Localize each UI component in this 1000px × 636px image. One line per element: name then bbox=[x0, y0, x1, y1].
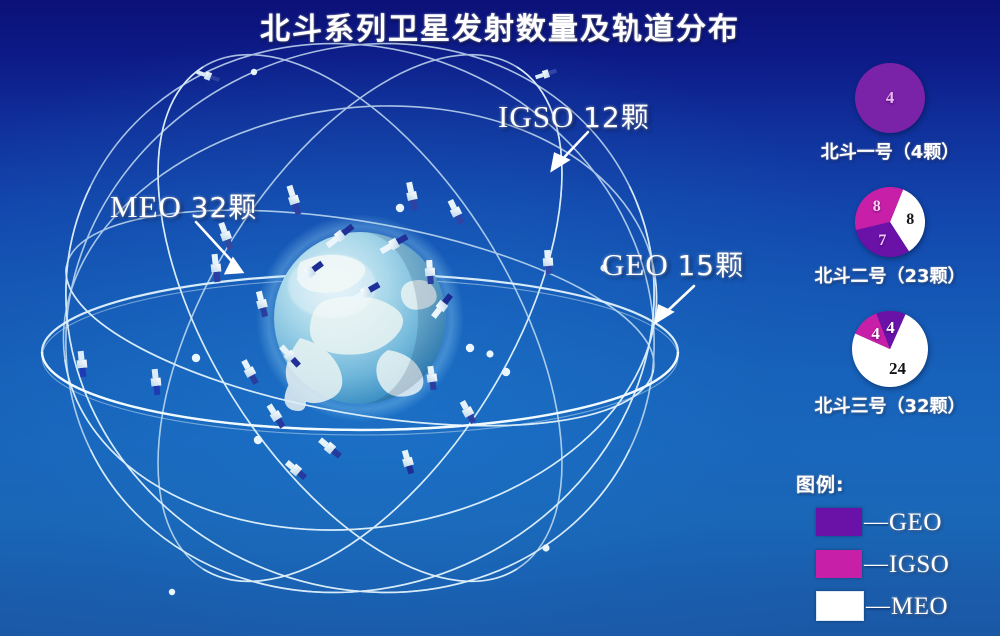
pie-svg-1 bbox=[854, 62, 926, 134]
annotation-meo-cjk: 32颗 bbox=[191, 191, 258, 224]
legend-label-igso: IGSO bbox=[889, 552, 949, 577]
pie-block-beidou-1: 4 北斗一号（4颗） bbox=[780, 62, 1000, 164]
legend-item-meo: — MEO bbox=[796, 589, 996, 623]
legend-title: 图例: bbox=[796, 470, 996, 497]
pie-caption-beidou-2: 北斗二号（23颗） bbox=[780, 262, 1000, 288]
legend-dash-meo: — bbox=[866, 594, 890, 618]
pie-caption-beidou-3: 北斗三号（32颗） bbox=[780, 392, 1000, 418]
pie-svg-3 bbox=[851, 310, 929, 388]
igso-arrow bbox=[552, 132, 588, 170]
pie-chart-beidou-1: 4 bbox=[854, 62, 926, 134]
annotation-label-geo: GEO 15颗 bbox=[602, 244, 744, 284]
legend-swatch-geo bbox=[816, 508, 862, 536]
pie-chart-beidou-3: 2444 bbox=[851, 310, 929, 388]
legend-label-meo: MEO bbox=[891, 594, 948, 619]
legend-swatch-igso bbox=[816, 550, 862, 578]
pie-block-beidou-2: 878 北斗二号（23颗） bbox=[780, 186, 1000, 288]
annotation-geo-latin: GEO bbox=[602, 247, 677, 282]
pie-block-beidou-3: 2444 北斗三号（32颗） bbox=[780, 310, 1000, 418]
earth-globe bbox=[256, 214, 464, 422]
annotation-igso-latin: IGSO bbox=[498, 99, 583, 134]
annotation-igso-cjk: 12颗 bbox=[583, 101, 650, 134]
annotation-label-meo: MEO 32颗 bbox=[110, 186, 257, 226]
pie-slice-geo bbox=[855, 63, 925, 133]
pie-svg-2 bbox=[854, 186, 926, 258]
legend-dash-geo: — bbox=[864, 510, 888, 534]
legend-label-geo: GEO bbox=[889, 510, 942, 535]
satellite-orbit-infographic: 北斗系列卫星发射数量及轨道分布 bbox=[0, 0, 1000, 636]
legend-item-igso: — IGSO bbox=[796, 547, 996, 581]
legend-dash-igso: — bbox=[864, 552, 888, 576]
annotation-geo-cjk: 15颗 bbox=[677, 249, 744, 282]
annotation-meo-latin: MEO bbox=[110, 189, 191, 224]
legend-swatch-meo bbox=[816, 591, 864, 621]
legend: 图例: — GEO — IGSO — MEO bbox=[796, 470, 996, 631]
legend-item-geo: — GEO bbox=[796, 505, 996, 539]
pie-chart-beidou-2: 878 bbox=[854, 186, 926, 258]
geo-arrow bbox=[656, 286, 694, 322]
pie-caption-beidou-1: 北斗一号（4颗） bbox=[780, 138, 1000, 164]
annotation-label-igso: IGSO 12颗 bbox=[498, 96, 650, 136]
